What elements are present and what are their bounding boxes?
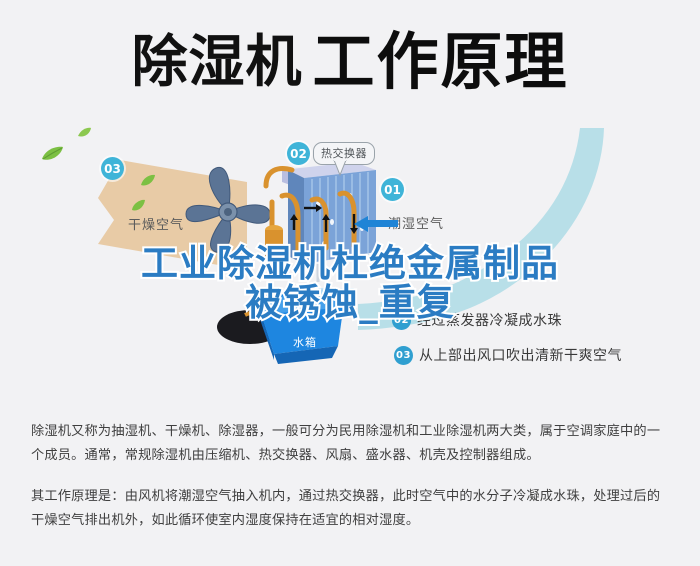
overlay-title-line-2: 被锈蚀_重复	[0, 283, 700, 322]
dry-air-label: 干燥空气	[128, 214, 184, 233]
inlet-arrow-icon	[352, 216, 398, 232]
badge-01-humid-air: 01	[381, 178, 404, 201]
step-text-03: 从上部出风口吹出清新干爽空气	[419, 345, 622, 365]
body-paragraph-1: 除湿机又称为抽湿机、干燥机、除湿器，一般可分为民用除湿机和工业除湿机两大类，属于…	[31, 420, 673, 469]
paragraph-spacer	[31, 469, 673, 485]
leaf-icon	[40, 146, 64, 162]
body-paragraph-2: 其工作原理是：由风机将潮湿空气抽入机内，通过热交换器，此时空气中的水分子冷凝成水…	[31, 485, 673, 534]
infographic-page: 除湿机 工作原理	[0, 0, 700, 566]
leaf-icon	[131, 199, 146, 212]
page-title: 除湿机 工作原理	[0, 18, 700, 108]
overlay-watermark-title: 工业除湿机杜绝金属制品 被锈蚀_重复	[0, 244, 700, 322]
callout-tail-icon	[333, 160, 347, 176]
page-title-part1: 除湿机	[131, 35, 302, 91]
water-tank-label: 水箱	[293, 334, 317, 350]
page-title-part2: 工作原理	[312, 32, 568, 94]
overlay-title-line-1: 工业除湿机杜绝金属制品	[0, 244, 700, 283]
leaf-icon	[140, 174, 156, 187]
leaf-icon	[77, 127, 92, 138]
body-copy: 除湿机又称为抽湿机、干燥机、除湿器，一般可分为民用除湿机和工业除湿机两大类，属于…	[31, 420, 673, 534]
badge-03-dry-air: 03	[101, 157, 124, 180]
step-line-03: 03 从上部出风口吹出清新干爽空气	[394, 345, 622, 365]
badge-02-heat-exchanger: 02	[287, 142, 310, 165]
step-number-03: 03	[394, 346, 413, 365]
